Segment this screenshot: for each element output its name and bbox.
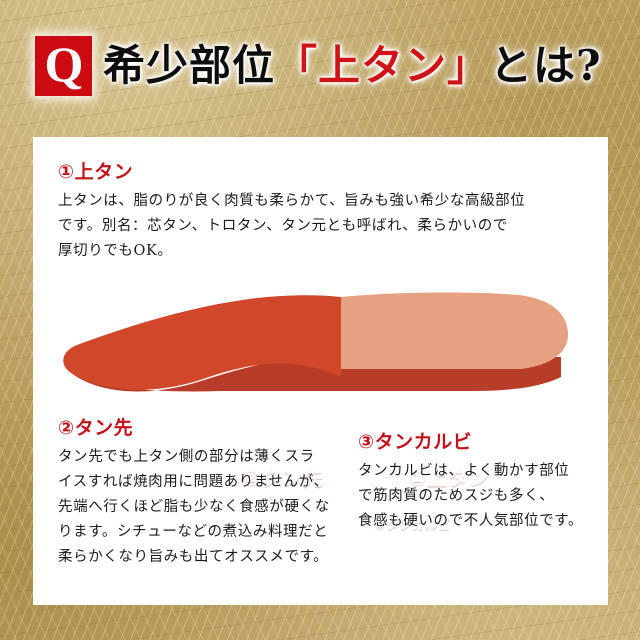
body-line: タン先でも上タン側の部分は薄くスラ [58,445,348,470]
body-line: 上タンは、脂のりが良く肉質も柔らかて、旨みも強い希少な高級部位 [58,189,586,214]
body-line: ります。シチューなどの煮込み料理だと [58,520,348,545]
content-panel: ①上タン 上タンは、脂のりが良く肉質も柔らかて、旨みも強い希少な高級部位 です。… [33,137,608,605]
body-line: タンカルビは、よく動かす部位 [358,459,598,484]
section-heading-tankarubi: ③タンカルビ [358,433,472,452]
infographic-canvas: Q 希少部位「上タン」とは? ①上タン 上タンは、脂のりが良く肉質も柔らかて、旨… [0,0,640,640]
section-body-tansaki: タン先でも上タン側の部分は薄くスラ イスすれば焼肉用に問題ありませんが、 先端へ… [58,445,348,570]
tongue-diagram-svg [41,277,601,402]
body-line: 先端へ行くほど脂も少なく食感が硬くな [58,495,348,520]
section-heading-uwatan: ①上タン [58,163,133,182]
section-heading-tansaki: ②タン先 [58,419,133,438]
body-line: です。別名：芯タン、トロタン、タン元とも呼ばれ、柔らかいので [58,214,586,239]
page-title: 希少部位「上タン」とは? [103,34,623,100]
page-title-part3: とは? [490,41,602,90]
page-title-part2: 「上タン」 [275,41,490,90]
question-badge: Q [35,36,92,96]
body-line: 厚切りでもOK。 [58,239,586,264]
body-line: 柔らかくなり旨みも出てオススメです。 [58,545,348,570]
section-body-tankarubi: タンカルビは、よく動かす部位 で筋肉質のためスジも多く、 食感も硬いので不人気部… [358,459,598,534]
body-line: 食感も硬いので不人気部位です。 [358,509,598,534]
page-title-part1: 希少部位 [103,41,275,90]
question-badge-letter: Q [45,39,83,89]
body-line: で筋肉質のためスジも多く、 [358,484,598,509]
header: Q 希少部位「上タン」とは? [0,24,640,110]
region-uwatan [341,293,568,369]
section-body-uwatan: 上タンは、脂のりが良く肉質も柔らかて、旨みも強い希少な高級部位 です。別名：芯タ… [58,189,586,264]
tongue-diagram: ②タン先 ①上タン ③タンカルビ [41,277,601,402]
body-line: イスすれば焼肉用に問題ありませんが、 [58,470,348,495]
